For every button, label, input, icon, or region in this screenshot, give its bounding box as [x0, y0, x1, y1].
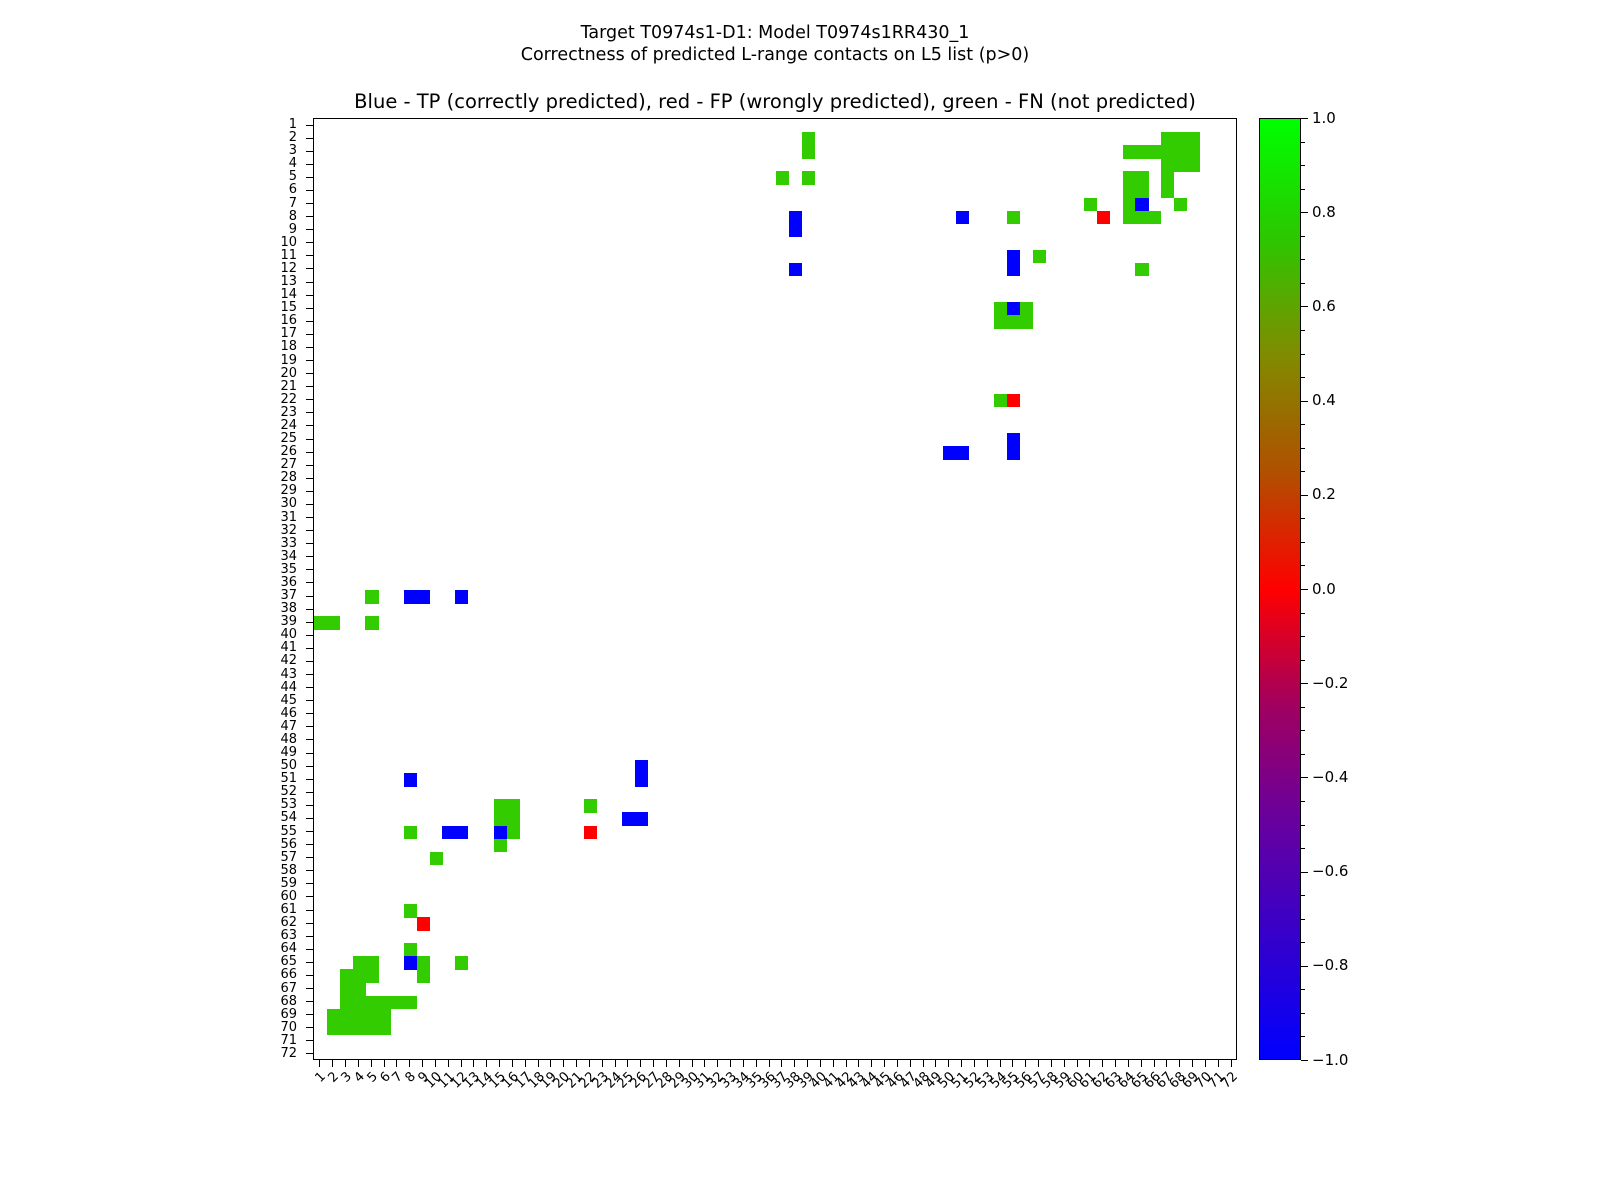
x-tick-mark: [371, 1060, 372, 1067]
colorbar-minor-tick: [1301, 542, 1305, 543]
tp-cell: [635, 760, 648, 774]
x-tick-mark: [332, 1060, 333, 1067]
fn-cell: [494, 839, 507, 853]
fn-cell: [365, 956, 378, 970]
y-tick-mark: [306, 792, 313, 793]
x-tick-mark: [666, 1060, 667, 1067]
fn-cell: [327, 1022, 340, 1036]
x-tick-mark: [473, 1060, 474, 1067]
y-tick-mark: [306, 517, 313, 518]
colorbar-minor-tick: [1301, 636, 1305, 637]
y-tick-label: 60: [280, 890, 297, 903]
y-tick-mark: [306, 412, 313, 413]
tp-cell: [1007, 446, 1020, 460]
y-tick-mark: [306, 661, 313, 662]
colorbar-tick-mark: [1301, 212, 1308, 213]
contact-map-figure: Target T0974s1-D1: Model T0974s1RR430_1 …: [0, 0, 1600, 1200]
x-tick-mark: [435, 1060, 436, 1067]
colorbar-tick-mark: [1301, 589, 1308, 590]
colorbar-minor-tick: [1301, 165, 1305, 166]
axes-title-legend: Blue - TP (correctly predicted), red - F…: [313, 90, 1237, 113]
y-tick-label: 17: [280, 327, 297, 340]
y-tick-label: 46: [280, 707, 297, 720]
x-tick-mark: [897, 1060, 898, 1067]
colorbar-minor-tick: [1301, 801, 1305, 802]
tp-cell: [417, 590, 430, 604]
tp-cell: [455, 826, 468, 840]
colorbar-tick-label: −0.2: [1312, 676, 1348, 691]
fn-cell: [340, 1009, 353, 1023]
y-tick-mark: [306, 700, 313, 701]
y-tick-label: 47: [280, 720, 297, 733]
x-tick-mark: [538, 1060, 539, 1067]
tp-cell: [1007, 250, 1020, 264]
colorbar-tick-mark: [1301, 872, 1308, 873]
x-tick-mark: [1102, 1060, 1103, 1067]
fn-cell: [417, 969, 430, 983]
y-tick-mark: [306, 1053, 313, 1054]
fn-cell: [1020, 302, 1033, 316]
colorbar-tick-mark: [1301, 1060, 1308, 1061]
y-tick-label: 45: [280, 694, 297, 707]
colorbar-minor-tick: [1301, 730, 1305, 731]
tp-cell: [789, 263, 802, 277]
fp-cell: [1007, 394, 1020, 408]
y-tick-mark: [306, 386, 313, 387]
x-tick-mark: [1038, 1060, 1039, 1067]
y-tick-label: 41: [280, 641, 297, 654]
y-tick-label: 67: [280, 982, 297, 995]
colorbar-minor-tick: [1301, 518, 1305, 519]
y-tick-mark: [306, 687, 313, 688]
colorbar-minor-tick: [1301, 919, 1305, 920]
fn-cell: [365, 996, 378, 1010]
x-tick-mark: [807, 1060, 808, 1067]
fn-cell: [430, 852, 443, 866]
y-tick-mark: [306, 844, 313, 845]
y-tick-label: 58: [280, 864, 297, 877]
x-tick-mark: [948, 1060, 949, 1067]
y-tick-label: 42: [280, 654, 297, 667]
y-tick-mark: [306, 713, 313, 714]
x-tick-mark: [679, 1060, 680, 1067]
y-tick-label: 31: [280, 511, 297, 524]
x-tick-mark: [589, 1060, 590, 1067]
y-tick-mark: [306, 896, 313, 897]
y-tick-label: 37: [280, 589, 297, 602]
x-tick-mark: [794, 1060, 795, 1067]
colorbar-tick-mark: [1301, 306, 1308, 307]
tp-cell: [956, 446, 969, 460]
colorbar-tick-label: 0.0: [1312, 582, 1336, 597]
fn-cell: [378, 1022, 391, 1036]
colorbar-minor-tick: [1301, 707, 1305, 708]
y-tick-label: 69: [280, 1008, 297, 1021]
fn-cell: [1135, 145, 1148, 159]
y-tick-mark: [306, 347, 313, 348]
y-tick-mark: [306, 465, 313, 466]
y-tick-mark: [306, 360, 313, 361]
y-tick-label: 68: [280, 995, 297, 1008]
y-tick-mark: [306, 975, 313, 976]
y-tick-label: 1: [289, 118, 297, 131]
y-tick-label: 3: [289, 144, 297, 157]
y-tick-mark: [306, 125, 313, 126]
fn-cell: [1033, 250, 1046, 264]
y-tick-label: 62: [280, 916, 297, 929]
colorbar-minor-tick: [1301, 259, 1305, 260]
fn-cell: [1020, 315, 1033, 329]
y-tick-label: 30: [280, 497, 297, 510]
x-tick-mark: [781, 1060, 782, 1067]
fn-cell: [802, 171, 815, 185]
figure-suptitle-line1: Target T0974s1-D1: Model T0974s1RR430_1: [0, 22, 1550, 44]
y-tick-label: 15: [280, 301, 297, 314]
colorbar-minor-tick: [1301, 471, 1305, 472]
x-tick-mark: [1128, 1060, 1129, 1067]
fn-cell: [1148, 145, 1161, 159]
fp-cell: [1097, 211, 1110, 225]
y-tick-label: 50: [280, 759, 297, 772]
y-tick-mark: [306, 242, 313, 243]
x-tick-mark: [704, 1060, 705, 1067]
x-tick-mark: [1166, 1060, 1167, 1067]
tp-cell: [635, 773, 648, 787]
tp-cell: [455, 590, 468, 604]
y-tick-label: 20: [280, 367, 297, 380]
colorbar-minor-tick: [1301, 236, 1305, 237]
y-tick-label: 38: [280, 602, 297, 615]
y-tick-label: 61: [280, 903, 297, 916]
y-tick-label: 56: [280, 838, 297, 851]
y-tick-mark: [306, 425, 313, 426]
x-tick-mark: [910, 1060, 911, 1067]
y-tick-label: 12: [280, 262, 297, 275]
y-tick-mark: [306, 452, 313, 453]
y-tick-label: 55: [280, 825, 297, 838]
y-tick-mark: [306, 478, 313, 479]
y-tick-label: 43: [280, 668, 297, 681]
y-tick-mark: [306, 177, 313, 178]
tp-cell: [789, 224, 802, 238]
fn-cell: [1174, 132, 1187, 146]
y-tick-mark: [306, 1014, 313, 1015]
x-tick-mark: [1077, 1060, 1078, 1067]
tp-cell: [635, 812, 648, 826]
y-tick-label: 49: [280, 746, 297, 759]
x-tick-mark: [640, 1060, 641, 1067]
y-tick-mark: [306, 295, 313, 296]
y-tick-mark: [306, 530, 313, 531]
y-tick-label: 39: [280, 615, 297, 628]
fn-cell: [776, 171, 789, 185]
colorbar-tick-mark: [1301, 777, 1308, 778]
x-tick-mark: [653, 1060, 654, 1067]
y-tick-mark: [306, 138, 313, 139]
fn-cell: [1161, 145, 1174, 159]
y-tick-mark: [306, 491, 313, 492]
x-tick-mark: [358, 1060, 359, 1067]
colorbar-minor-tick: [1301, 189, 1305, 190]
x-tick-mark: [576, 1060, 577, 1067]
y-tick-mark: [306, 648, 313, 649]
fn-cell: [1123, 171, 1136, 185]
fn-cell: [404, 943, 417, 957]
x-tick-mark: [550, 1060, 551, 1067]
fn-cell: [353, 969, 366, 983]
y-tick-mark: [306, 805, 313, 806]
tp-cell: [943, 446, 956, 460]
fn-cell: [1187, 132, 1200, 146]
fn-cell: [994, 315, 1007, 329]
x-tick-mark: [499, 1060, 500, 1067]
x-tick-mark: [448, 1060, 449, 1067]
y-tick-mark: [306, 268, 313, 269]
colorbar-tick-mark: [1301, 118, 1308, 119]
fn-cell: [507, 812, 520, 826]
fn-cell: [365, 590, 378, 604]
fn-cell: [1148, 211, 1161, 225]
y-tick-label: 34: [280, 550, 297, 563]
colorbar-tick-mark: [1301, 966, 1308, 967]
fn-cell: [365, 1022, 378, 1036]
x-tick-mark: [1089, 1060, 1090, 1067]
x-tick-mark: [730, 1060, 731, 1067]
fp-cell: [417, 917, 430, 931]
y-tick-mark: [306, 674, 313, 675]
colorbar: [1259, 118, 1301, 1060]
fn-cell: [1187, 158, 1200, 172]
x-tick-mark: [858, 1060, 859, 1067]
tp-cell: [1135, 198, 1148, 212]
figure-suptitle-line2: Correctness of predicted L-range contact…: [0, 44, 1550, 66]
fn-cell: [1174, 158, 1187, 172]
y-tick-label: 19: [280, 354, 297, 367]
fn-cell: [455, 956, 468, 970]
x-tick-mark: [1179, 1060, 1180, 1067]
y-tick-label: 44: [280, 681, 297, 694]
colorbar-minor-tick: [1301, 895, 1305, 896]
fn-cell: [391, 996, 404, 1010]
fn-cell: [353, 996, 366, 1010]
x-tick-mark: [1205, 1060, 1206, 1067]
y-tick-label: 33: [280, 537, 297, 550]
y-tick-mark: [306, 504, 313, 505]
x-tick-mark: [717, 1060, 718, 1067]
colorbar-tick-mark: [1301, 495, 1308, 496]
y-tick-label: 36: [280, 576, 297, 589]
x-tick-mark: [923, 1060, 924, 1067]
colorbar-minor-tick: [1301, 565, 1305, 566]
x-tick-mark: [935, 1060, 936, 1067]
y-tick-label: 52: [280, 785, 297, 798]
fn-cell: [994, 394, 1007, 408]
y-tick-label: 72: [280, 1047, 297, 1060]
tp-cell: [404, 590, 417, 604]
y-tick-mark: [306, 831, 313, 832]
y-tick-label: 35: [280, 563, 297, 576]
y-tick-mark: [306, 870, 313, 871]
fn-cell: [802, 145, 815, 159]
y-tick-mark: [306, 923, 313, 924]
fn-cell: [404, 996, 417, 1010]
colorbar-tick-label: 1.0: [1312, 111, 1336, 126]
tp-cell: [1007, 433, 1020, 447]
colorbar-minor-tick: [1301, 1013, 1305, 1014]
fp-cell: [584, 826, 597, 840]
tp-cell: [1007, 302, 1020, 316]
tp-cell: [622, 812, 635, 826]
y-tick-label: 40: [280, 628, 297, 641]
colorbar-minor-tick: [1301, 354, 1305, 355]
fn-cell: [327, 1009, 340, 1023]
y-tick-mark: [306, 582, 313, 583]
y-tick-mark: [306, 609, 313, 610]
y-tick-label: 22: [280, 393, 297, 406]
y-tick-label: 24: [280, 419, 297, 432]
fn-cell: [1174, 198, 1187, 212]
y-tick-mark: [306, 543, 313, 544]
fn-cell: [507, 799, 520, 813]
y-tick-label: 14: [280, 288, 297, 301]
x-tick-mark: [692, 1060, 693, 1067]
y-tick-mark: [306, 857, 313, 858]
x-tick-mark: [833, 1060, 834, 1067]
y-tick-mark: [306, 635, 313, 636]
fn-cell: [1135, 263, 1148, 277]
fn-cell: [404, 826, 417, 840]
colorbar-tick-mark: [1301, 683, 1308, 684]
y-tick-label: 7: [289, 197, 297, 210]
colorbar-tick-label: −0.6: [1312, 864, 1348, 879]
x-tick-mark: [974, 1060, 975, 1067]
fn-cell: [1161, 158, 1174, 172]
y-tick-mark: [306, 399, 313, 400]
x-tick-mark: [525, 1060, 526, 1067]
tp-cell: [442, 826, 455, 840]
y-tick-mark: [306, 910, 313, 911]
colorbar-minor-tick: [1301, 448, 1305, 449]
colorbar-tick-mark: [1301, 401, 1308, 402]
fn-cell: [353, 1022, 366, 1036]
fn-cell: [314, 616, 327, 630]
contact-map-plot-area: [313, 118, 1237, 1060]
x-tick-mark: [1231, 1060, 1232, 1067]
y-tick-mark: [306, 766, 313, 767]
x-tick-mark: [319, 1060, 320, 1067]
fn-cell: [365, 616, 378, 630]
tp-cell: [494, 826, 507, 840]
x-tick-mark: [1051, 1060, 1052, 1067]
y-tick-label: 2: [289, 131, 297, 144]
x-tick-mark: [422, 1060, 423, 1067]
tp-cell: [1007, 263, 1020, 277]
y-tick-label: 5: [289, 170, 297, 183]
y-tick-mark: [306, 308, 313, 309]
fn-cell: [1135, 184, 1148, 198]
colorbar-minor-tick: [1301, 754, 1305, 755]
x-tick-mark: [1115, 1060, 1116, 1067]
tp-cell: [789, 211, 802, 225]
fn-cell: [404, 904, 417, 918]
fn-cell: [802, 132, 815, 146]
y-tick-mark: [306, 216, 313, 217]
tp-cell: [956, 211, 969, 225]
x-tick-mark: [563, 1060, 564, 1067]
colorbar-tick-label: −0.8: [1312, 958, 1348, 973]
y-tick-label: 29: [280, 484, 297, 497]
x-tick-mark: [1064, 1060, 1065, 1067]
y-tick-mark: [306, 334, 313, 335]
y-tick-mark: [306, 1001, 313, 1002]
fn-cell: [1123, 211, 1136, 225]
x-tick-mark: [756, 1060, 757, 1067]
x-tick-mark: [1154, 1060, 1155, 1067]
colorbar-minor-tick: [1301, 989, 1305, 990]
x-tick-mark: [743, 1060, 744, 1067]
x-tick-mark: [1141, 1060, 1142, 1067]
x-tick-mark: [1218, 1060, 1219, 1067]
y-tick-mark: [306, 962, 313, 963]
x-tick-mark: [987, 1060, 988, 1067]
y-tick-label: 13: [280, 275, 297, 288]
y-tick-mark: [306, 321, 313, 322]
contact-cells-layer: [314, 119, 1236, 1059]
fn-cell: [1123, 184, 1136, 198]
y-tick-mark: [306, 556, 313, 557]
y-tick-label: 64: [280, 942, 297, 955]
fn-cell: [1123, 198, 1136, 212]
x-tick-mark: [1025, 1060, 1026, 1067]
y-tick-mark: [306, 1027, 313, 1028]
fn-cell: [1161, 184, 1174, 198]
x-tick-mark: [615, 1060, 616, 1067]
y-tick-label: 32: [280, 524, 297, 537]
y-tick-mark: [306, 373, 313, 374]
colorbar-minor-tick: [1301, 848, 1305, 849]
fn-cell: [365, 1009, 378, 1023]
y-tick-label: 48: [280, 733, 297, 746]
y-tick-label: 71: [280, 1034, 297, 1047]
fn-cell: [1007, 211, 1020, 225]
y-tick-mark: [306, 151, 313, 152]
y-tick-label: 25: [280, 432, 297, 445]
y-tick-label: 28: [280, 471, 297, 484]
y-tick-label: 63: [280, 929, 297, 942]
colorbar-tick-label: 0.8: [1312, 205, 1336, 220]
fn-cell: [1174, 145, 1187, 159]
y-tick-label: 21: [280, 380, 297, 393]
fn-cell: [1135, 171, 1148, 185]
fn-cell: [1161, 171, 1174, 185]
fn-cell: [365, 969, 378, 983]
y-tick-label: 11: [280, 249, 297, 262]
y-tick-label: 66: [280, 968, 297, 981]
y-tick-label: 9: [289, 223, 297, 236]
colorbar-tick-label: −1.0: [1312, 1053, 1348, 1068]
y-tick-label: 70: [280, 1021, 297, 1034]
y-tick-mark: [306, 753, 313, 754]
colorbar-minor-tick: [1301, 825, 1305, 826]
y-tick-mark: [306, 229, 313, 230]
x-tick-mark: [345, 1060, 346, 1067]
y-tick-mark: [306, 726, 313, 727]
y-tick-mark: [306, 988, 313, 989]
x-tick-mark: [384, 1060, 385, 1067]
y-tick-label: 18: [280, 340, 297, 353]
fn-cell: [417, 956, 430, 970]
x-tick-mark: [396, 1060, 397, 1067]
